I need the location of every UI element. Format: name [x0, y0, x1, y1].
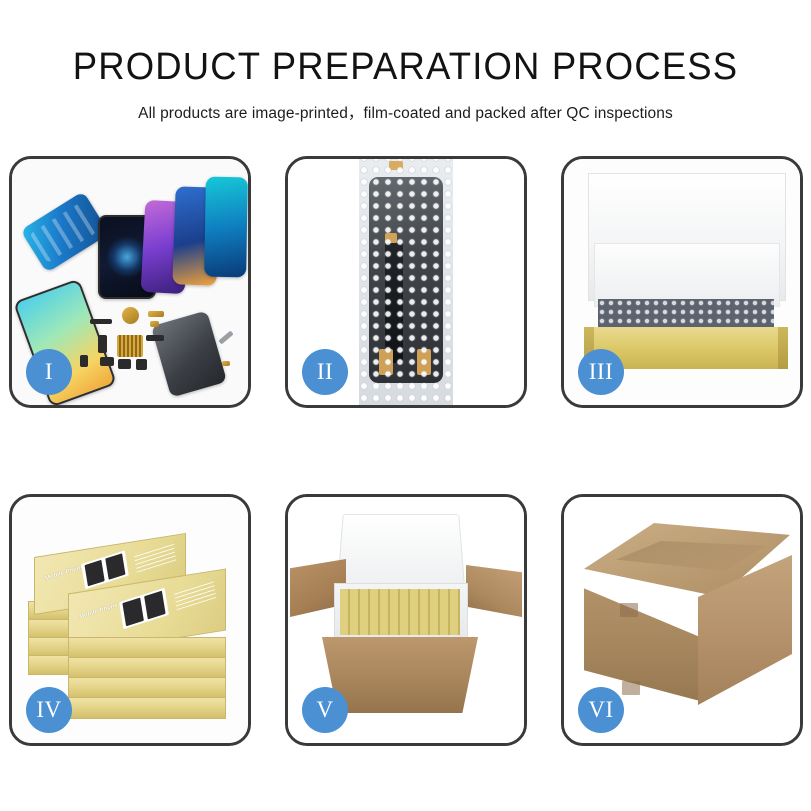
sim-tray-part-icon [150, 321, 159, 327]
packed-retail-boxes-icon [340, 589, 460, 635]
box-product-photo [81, 550, 129, 589]
flex-cable-part-icon [98, 335, 107, 353]
page-subtitle: All products are image-printed，film-coat… [0, 89, 811, 123]
tape-lower-right-icon [417, 349, 431, 375]
box-spec-lines [134, 541, 177, 573]
foam-lid-icon [337, 514, 465, 587]
step-card-5: V [285, 494, 527, 746]
carton-tab-upper-icon [620, 603, 638, 617]
step-image-5: V [288, 497, 524, 743]
stacked-box [68, 697, 226, 719]
tweezers-icon [218, 330, 233, 344]
sealed-carton-left-face-icon [584, 573, 700, 701]
tape-top-icon [389, 161, 403, 170]
product-preparation-infographic: PRODUCT PREPARATION PROCESS All products… [0, 0, 811, 811]
antenna-part-icon [90, 319, 112, 324]
step-image-6: VI [564, 497, 800, 743]
vibrator-part-icon [118, 359, 131, 369]
phone-adhesive-film-icon [20, 191, 109, 273]
header: PRODUCT PREPARATION PROCESS All products… [0, 0, 811, 123]
connector-part-icon [148, 311, 164, 317]
foam-sheet-icon [594, 243, 780, 307]
step-card-3: III [561, 156, 803, 408]
phone-back-housing-icon [151, 310, 227, 397]
step-badge-2: II [302, 349, 348, 395]
lcd-flex-cable-icon [385, 243, 403, 363]
tape-lower-left-icon [379, 349, 393, 375]
step-card-4: Mobile Phone Spare Parts Mobile Phone Sp… [9, 494, 251, 746]
stacked-box [68, 657, 226, 679]
bubble-wrap-package-icon [359, 156, 453, 405]
box-product-photo [119, 588, 169, 629]
stacked-box [68, 637, 226, 659]
step-image-3: III [564, 159, 800, 405]
sensor-part-icon [80, 355, 88, 367]
screw-part-icon [222, 361, 230, 366]
carton-flap-right-icon [466, 565, 522, 617]
carton-tab-lower-icon [622, 681, 640, 695]
step-card-2: II [285, 156, 527, 408]
logic-board-part-icon [117, 335, 143, 357]
speaker-part-icon [122, 307, 139, 324]
step-card-1: I [9, 156, 251, 408]
step-badge-5: V [302, 687, 348, 733]
stacked-box [68, 677, 226, 699]
step-badge-3: III [578, 349, 624, 395]
step-badge-6: VI [578, 687, 624, 733]
step-image-4: Mobile Phone Spare Parts Mobile Phone Sp… [12, 497, 248, 743]
step-card-6: VI [561, 494, 803, 746]
phone-teal-icon [204, 177, 248, 278]
box-spec-lines [174, 579, 217, 611]
taptic-part-icon [136, 359, 147, 370]
steps-grid: I II [9, 156, 802, 746]
button-flex-part-icon [146, 335, 164, 341]
step-badge-1: I [26, 349, 72, 395]
step-image-1: I [12, 159, 248, 405]
step-badge-4: IV [26, 687, 72, 733]
tape-mid-icon [385, 233, 397, 243]
step-image-2: II [288, 159, 524, 405]
camera-part-icon [100, 357, 114, 366]
page-title: PRODUCT PREPARATION PROCESS [16, 0, 795, 89]
